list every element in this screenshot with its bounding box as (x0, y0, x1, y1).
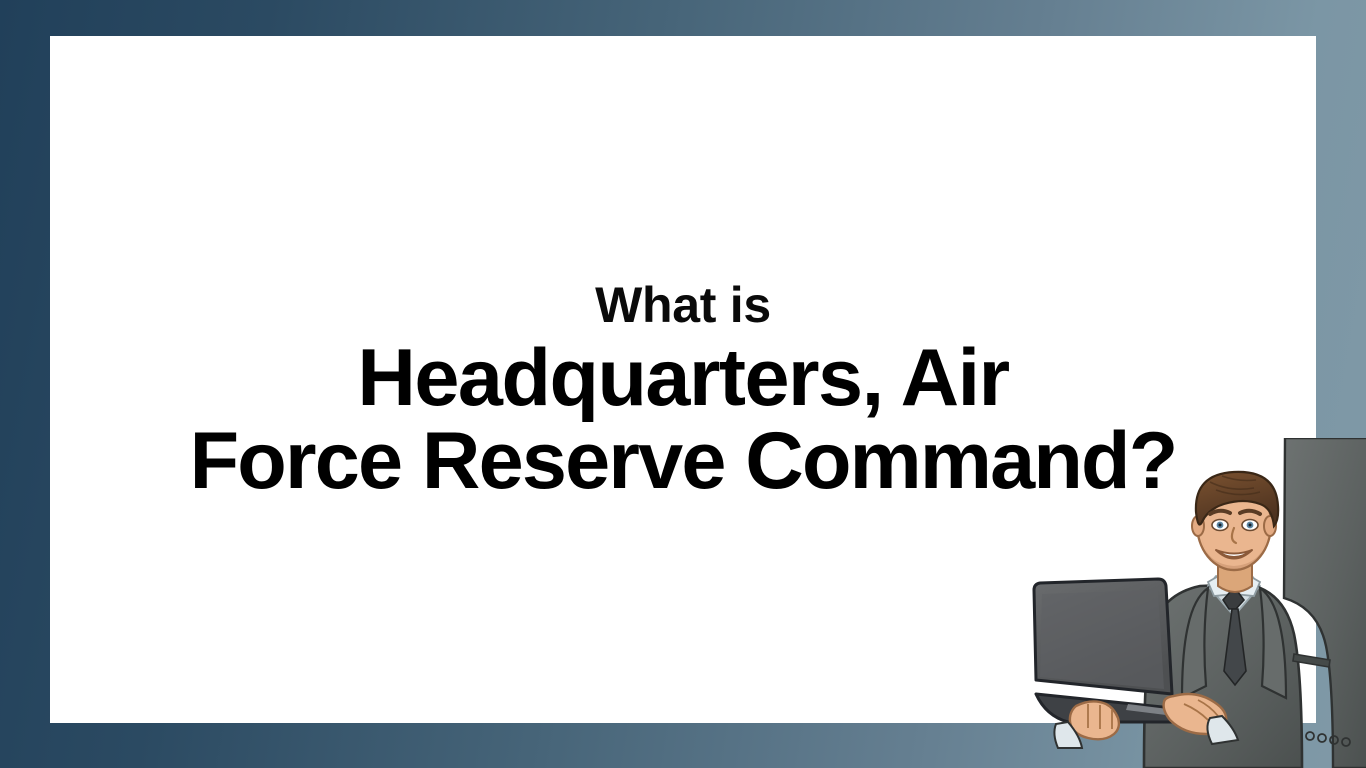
headline-line-2: Force Reserve Command? (190, 420, 1177, 503)
eyebrow-text: What is (595, 280, 771, 331)
slide-canvas: What is Headquarters, Air Force Reserve … (0, 0, 1366, 768)
headline-line-1: Headquarters, Air (357, 333, 1008, 423)
cuff-left (1054, 722, 1082, 748)
title-block: What is Headquarters, Air Force Reserve … (50, 36, 1316, 723)
sleeve-buttons (1306, 732, 1350, 746)
page-title: Headquarters, Air Force Reserve Command? (190, 337, 1177, 502)
